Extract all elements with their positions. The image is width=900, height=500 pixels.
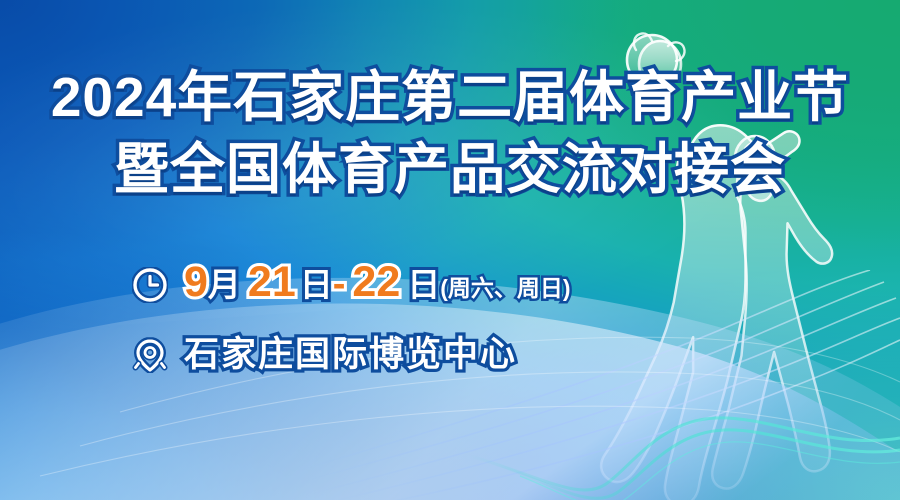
date-weekday-note: (周六、周日): [440, 265, 570, 311]
event-venue-row: 石家庄国际博览中心: [132, 328, 772, 382]
date-day-start: 21: [248, 259, 296, 305]
venue-name: 石家庄国际博览中心: [184, 332, 517, 378]
event-info: 9 月 21 日 - 22 日 (周六、周日): [132, 258, 772, 382]
title-line-1: 2024年石家庄第二届体育产业节: [0, 64, 900, 130]
date-separator: -: [333, 261, 346, 307]
title-line-2: 暨全国体育产品交流对接会: [0, 136, 900, 202]
date-day-start-label: 日: [300, 262, 333, 308]
location-pin-icon: [132, 337, 168, 373]
clock-icon: [132, 267, 168, 303]
date-day-end-label: 日: [407, 262, 440, 308]
date-month-number: 9: [184, 259, 208, 305]
event-date-row: 9 月 21 日 - 22 日 (周六、周日): [132, 258, 772, 312]
banner-title: 2024年石家庄第二届体育产业节 暨全国体育产品交流对接会: [0, 64, 900, 202]
date-month-label: 月: [208, 262, 241, 308]
event-banner: 2024年石家庄第二届体育产业节 暨全国体育产品交流对接会 9 月 21 日: [0, 0, 900, 500]
date-day-end: 22: [352, 259, 400, 305]
